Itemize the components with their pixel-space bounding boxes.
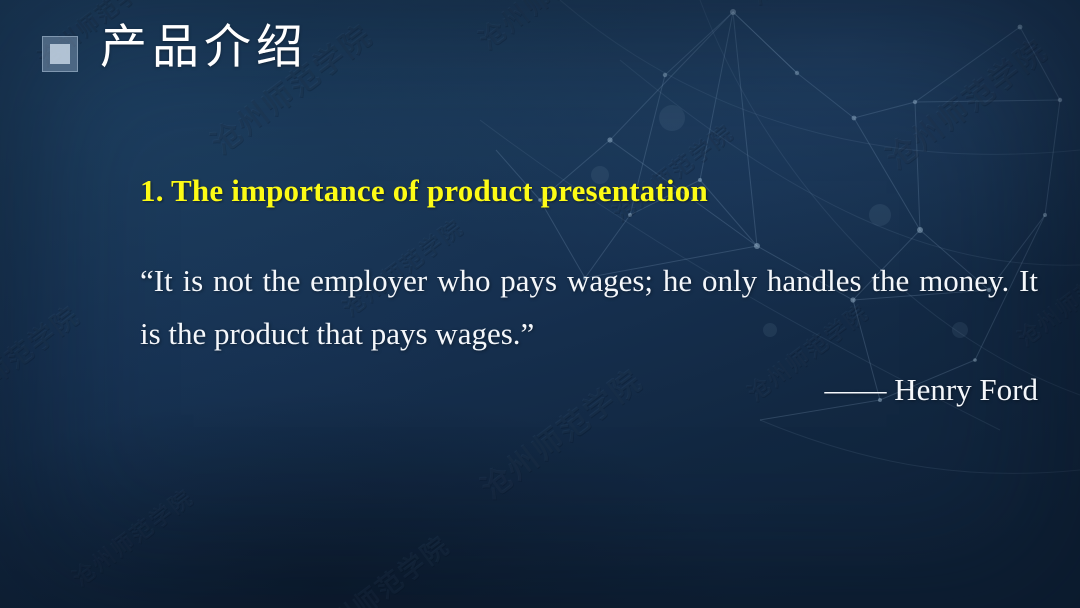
slide-canvas: 沧州师范学院 沧州师范学院 沧州师范学院 沧州师范学院 沧州师范学院 沧州师范学… bbox=[0, 0, 1080, 608]
quote-attribution: —— Henry Ford bbox=[140, 364, 1038, 416]
watermark-text: 沧州师范学院 bbox=[740, 0, 896, 12]
section-heading: 1. The importance of product presentatio… bbox=[140, 172, 1038, 209]
watermark-text: 沧州师范学院 bbox=[470, 0, 626, 57]
slide-content: 1. The importance of product presentatio… bbox=[140, 172, 1038, 416]
slide-header: 产品介绍 bbox=[42, 22, 308, 72]
page-title: 产品介绍 bbox=[100, 24, 308, 71]
nested-square-inner bbox=[50, 44, 70, 64]
watermark-text: 沧州师范学院 bbox=[875, 26, 1055, 177]
watermark-text: 沧州师范学院 bbox=[300, 526, 456, 608]
watermark-text: 沧州师范学院 bbox=[65, 480, 199, 592]
nested-square-icon bbox=[42, 36, 78, 72]
watermark-text: 沧州师范学院 bbox=[0, 296, 87, 427]
quote-text: “It is not the employer who pays wages; … bbox=[140, 254, 1038, 360]
